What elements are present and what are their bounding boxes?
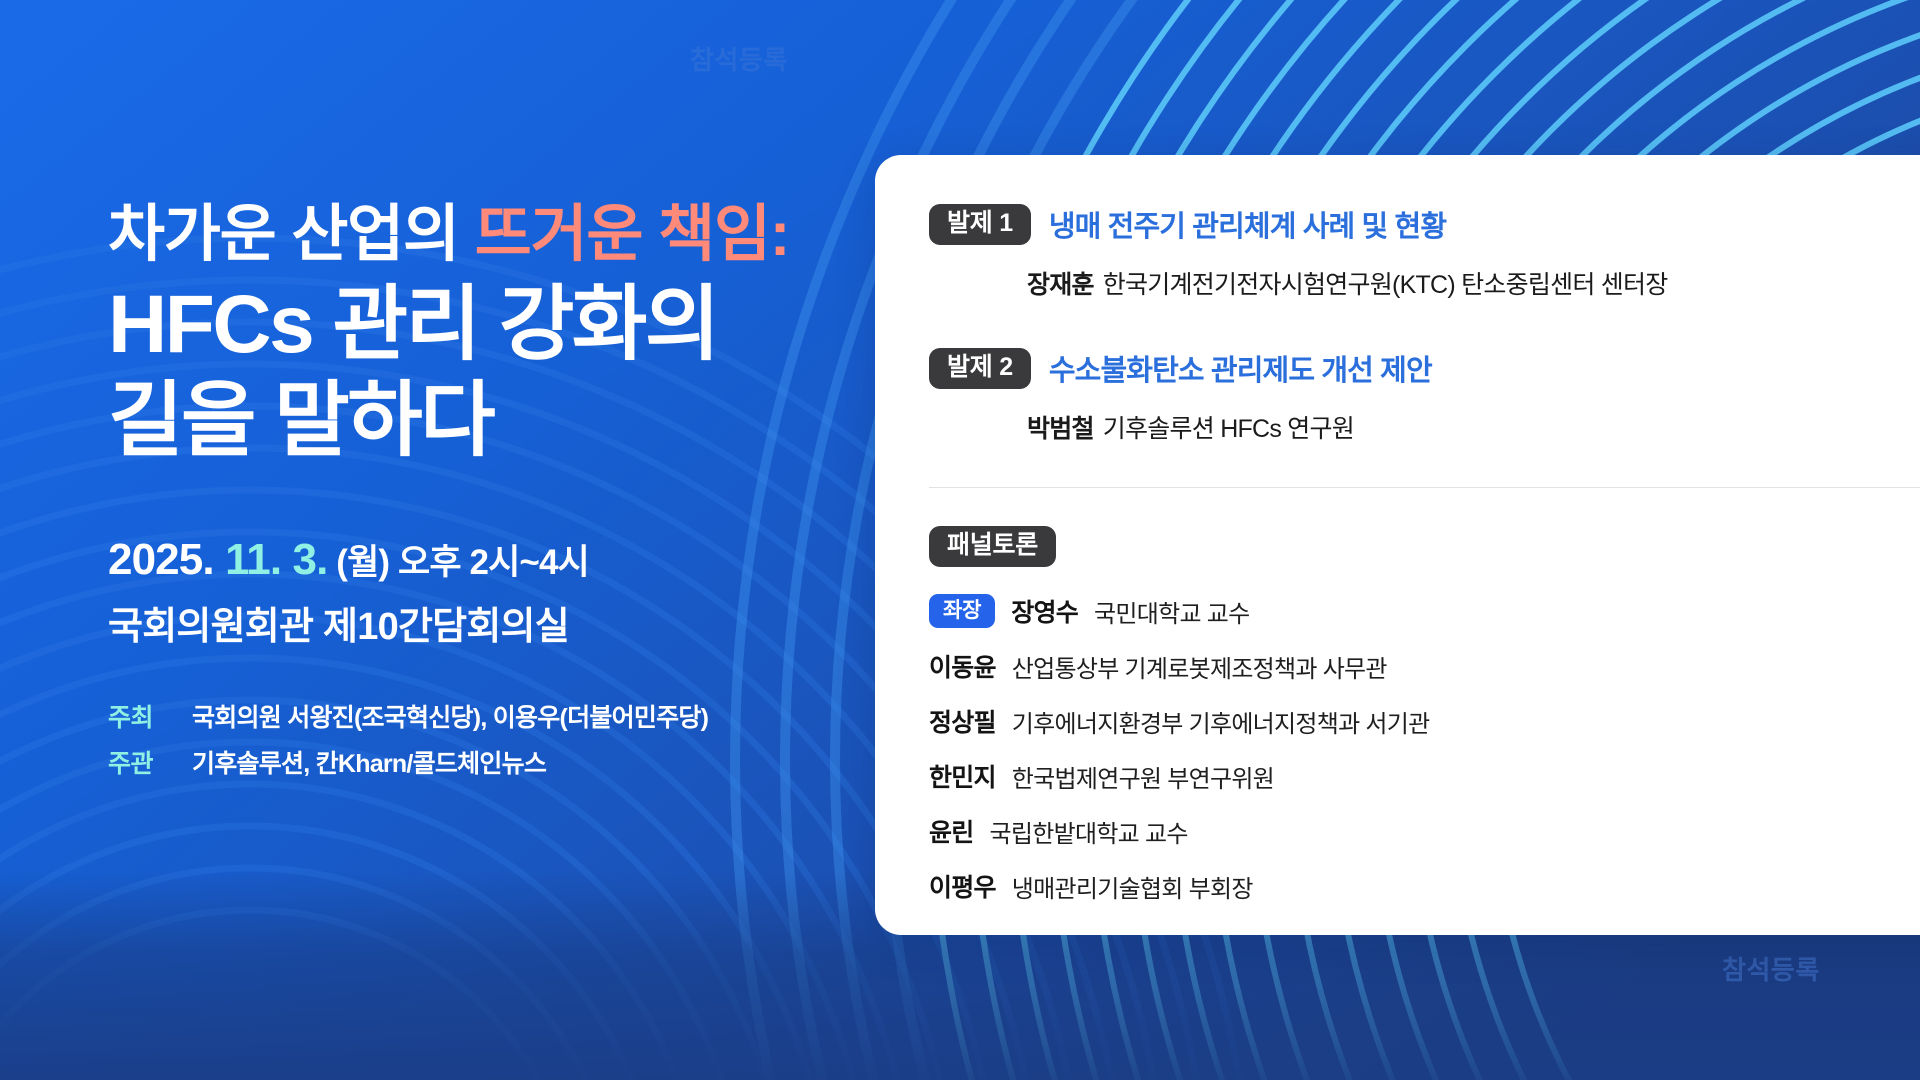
moderator-name: 장영수 xyxy=(1011,593,1078,629)
panelist-name: 이동윤 xyxy=(929,648,996,684)
left-info-column: 차가운 산업의 뜨거운 책임: HFCs 관리 강화의 길을 말하다 2025.… xyxy=(108,200,868,790)
event-datetime: 2025. 11. 3. (월) 오후 2시~4시 xyxy=(108,534,868,585)
event-date-accent: 11. 3. xyxy=(225,535,327,584)
panelist-name: 윤린 xyxy=(929,813,974,849)
list-item: 한민지 한국법제연구원 부연구위원 xyxy=(929,758,1920,794)
panelist-affiliation: 냉매관리기술협회 부회장 xyxy=(1012,869,1253,904)
organizer-block: 주최 국회의원 서왕진(조국혁신당), 이용우(더불어민주당) 주관 기후솔루션… xyxy=(108,698,868,780)
event-time: (월) 오후 2시~4시 xyxy=(327,543,588,582)
headline-line-1-accent: 뜨거운 책임: xyxy=(475,200,789,269)
headline-line-1-pre: 차가운 산업의 xyxy=(108,200,475,269)
organizer-row: 주관 기후솔루션, 칸Kharn/콜드체인뉴스 xyxy=(108,744,868,780)
organizer-label-host: 주최 xyxy=(108,698,192,734)
session-2-badge: 발제 2 xyxy=(929,348,1031,389)
organizer-value-manager: 기후솔루션, 칸Kharn/콜드체인뉴스 xyxy=(192,744,546,780)
headline-line-1: 차가운 산업의 뜨거운 책임: xyxy=(108,200,868,269)
poster-canvas: 참석등록 참석등록 차가운 산업의 뜨거운 책임: HFCs 관리 강화의 길을… xyxy=(0,0,1920,1080)
organizer-label-manager: 주관 xyxy=(108,744,192,780)
moderator-row: 좌장 장영수 국민대학교 교수 xyxy=(929,593,1920,629)
session-1-speaker-affiliation: 한국기계전기전자시험연구원(KTC) 탄소중립센터 센터장 xyxy=(1103,271,1668,299)
headline-line-2b: 길을 말하다 xyxy=(108,373,868,468)
panel-discussion-header: 패널토론 xyxy=(929,526,1920,567)
panelist-name: 정상필 xyxy=(929,703,996,739)
list-item: 윤린 국립한밭대학교 교수 xyxy=(929,813,1920,849)
panel-discussion-badge: 패널토론 xyxy=(929,526,1056,567)
panelist-affiliation: 한국법제연구원 부연구위원 xyxy=(1012,759,1274,794)
session-2-speaker: 박범철기후솔루션 HFCs 연구원 xyxy=(1027,409,1920,445)
panelist-name: 이평우 xyxy=(929,868,996,904)
list-item: 정상필 기후에너지환경부 기후에너지정책과 서기관 xyxy=(929,703,1920,739)
panelist-affiliation: 국립한밭대학교 교수 xyxy=(990,814,1188,849)
session-2: 발제 2 수소불화탄소 관리제도 개선 제안 박범철기후솔루션 HFCs 연구원 xyxy=(929,347,1920,445)
session-2-speaker-affiliation: 기후솔루션 HFCs 연구원 xyxy=(1103,415,1354,443)
session-1-speaker: 장재훈한국기계전기전자시험연구원(KTC) 탄소중립센터 센터장 xyxy=(1027,265,1920,301)
panelist-name: 한민지 xyxy=(929,758,996,794)
session-1-title: 냉매 전주기 관리체계 사례 및 현황 xyxy=(1049,203,1446,245)
panel-participant-list: 좌장 장영수 국민대학교 교수 이동윤 산업통상부 기계로봇제조정책과 사무관 … xyxy=(929,593,1920,904)
moderator-affiliation: 국민대학교 교수 xyxy=(1094,594,1249,629)
session-1-badge: 발제 1 xyxy=(929,204,1031,245)
session-1-header: 발제 1 냉매 전주기 관리체계 사례 및 현황 xyxy=(929,203,1920,245)
session-2-title: 수소불화탄소 관리제도 개선 제안 xyxy=(1049,347,1432,389)
event-venue: 국회의원회관 제10간담회의실 xyxy=(108,595,868,650)
list-item: 이평우 냉매관리기술협회 부회장 xyxy=(929,868,1920,904)
section-divider xyxy=(929,487,1920,488)
event-year: 2025. xyxy=(108,535,225,584)
watermark-bottom: 참석등록 xyxy=(1722,950,1820,987)
organizer-row: 주최 국회의원 서왕진(조국혁신당), 이용우(더불어민주당) xyxy=(108,698,868,734)
list-item: 이동윤 산업통상부 기계로봇제조정책과 사무관 xyxy=(929,648,1920,684)
panelist-affiliation: 산업통상부 기계로봇제조정책과 사무관 xyxy=(1012,649,1387,684)
panelist-affiliation: 기후에너지환경부 기후에너지정책과 서기관 xyxy=(1012,704,1430,739)
moderator-role-badge: 좌장 xyxy=(929,594,995,628)
session-2-speaker-name: 박범철 xyxy=(1027,415,1094,443)
headline-line-2a: HFCs 관리 강화의 xyxy=(108,277,868,372)
headline-line-2: HFCs 관리 강화의 길을 말하다 xyxy=(108,277,868,467)
watermark-top: 참석등록 xyxy=(690,40,788,77)
session-spacer xyxy=(929,307,1920,347)
session-1: 발제 1 냉매 전주기 관리체계 사례 및 현황 장재훈한국기계전기전자시험연구… xyxy=(929,203,1920,301)
session-1-speaker-name: 장재훈 xyxy=(1027,271,1094,299)
program-card: 발제 1 냉매 전주기 관리체계 사례 및 현황 장재훈한국기계전기전자시험연구… xyxy=(875,155,1920,935)
organizer-value-host: 국회의원 서왕진(조국혁신당), 이용우(더불어민주당) xyxy=(192,698,708,734)
session-2-header: 발제 2 수소불화탄소 관리제도 개선 제안 xyxy=(929,347,1920,389)
